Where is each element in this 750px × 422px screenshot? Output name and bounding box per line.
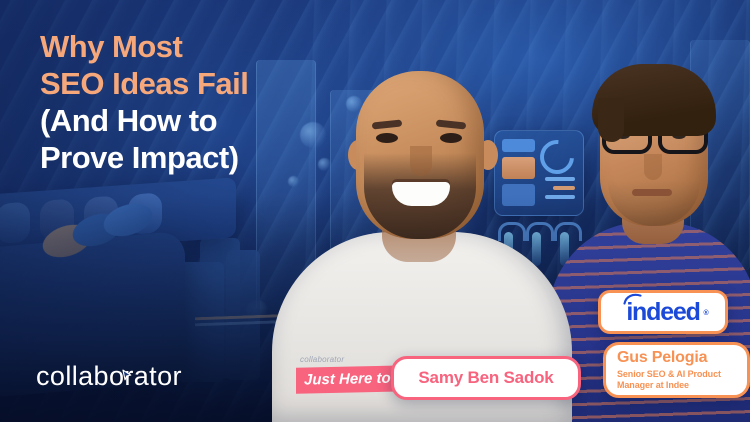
samy-nose [410, 146, 432, 176]
name-badge-gus-pelogia: Gus Pelogia Senior SEO & AI Product Mana… [603, 342, 750, 398]
name-badge-samy-ben-sadok: Samy Ben Sadok [391, 356, 581, 400]
samy-eye-right [440, 133, 462, 143]
gus-name-text: Gus Pelogia [617, 349, 707, 367]
headline: Why Most SEO Ideas Fail (And How to Prov… [40, 28, 370, 176]
headline-line-2: SEO Ideas Fail [40, 65, 370, 102]
gus-hair [592, 64, 716, 136]
company-logo-badge-indeed: indeed ® [598, 290, 728, 334]
gus-mouth [632, 189, 672, 196]
samy-smile [392, 182, 450, 206]
indeed-logo-text: indeed [626, 298, 699, 326]
headline-line-4: Prove Impact) [40, 139, 370, 176]
samy-eye-left [376, 133, 398, 143]
gus-role-text: Senior SEO & AI Product Manager at Indee [617, 369, 747, 391]
samy-name-text: Samy Ben Sadok [418, 368, 553, 388]
gus-nose [644, 154, 662, 180]
brand-wordmark: collaborator [36, 361, 182, 392]
indeed-wordmark: indeed ® [626, 300, 699, 325]
headline-line-3: (And How to [40, 102, 370, 139]
headline-line-1: Why Most [40, 28, 370, 65]
indeed-registered-mark: ® [704, 301, 709, 326]
brand-logo[interactable]: collaborator [36, 361, 182, 392]
thumbnail-canvas: collaborator Just Here to Why Most SEO I… [0, 0, 750, 422]
